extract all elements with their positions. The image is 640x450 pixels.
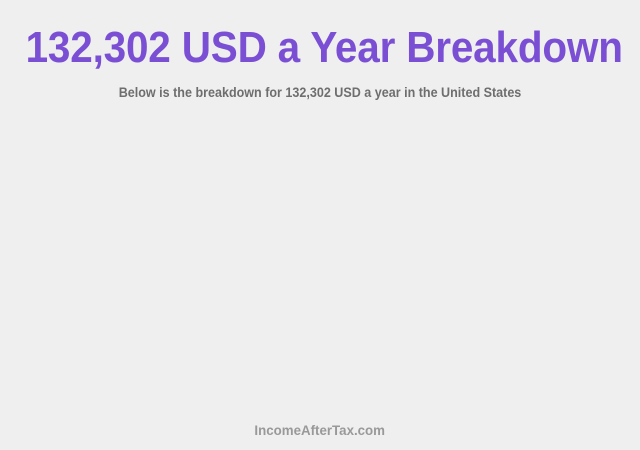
footer: IncomeAfterTax.com xyxy=(0,421,640,440)
income-breakdown-page: 132,302 USD a Year Breakdown Below is th… xyxy=(0,0,640,450)
chart-plot-area xyxy=(0,118,640,408)
page-subtitle: Below is the breakdown for 132,302 USD a… xyxy=(22,85,617,101)
page-title: 132,302 USD a Year Breakdown xyxy=(26,24,615,72)
site-watermark: IncomeAfterTax.com xyxy=(255,421,386,439)
